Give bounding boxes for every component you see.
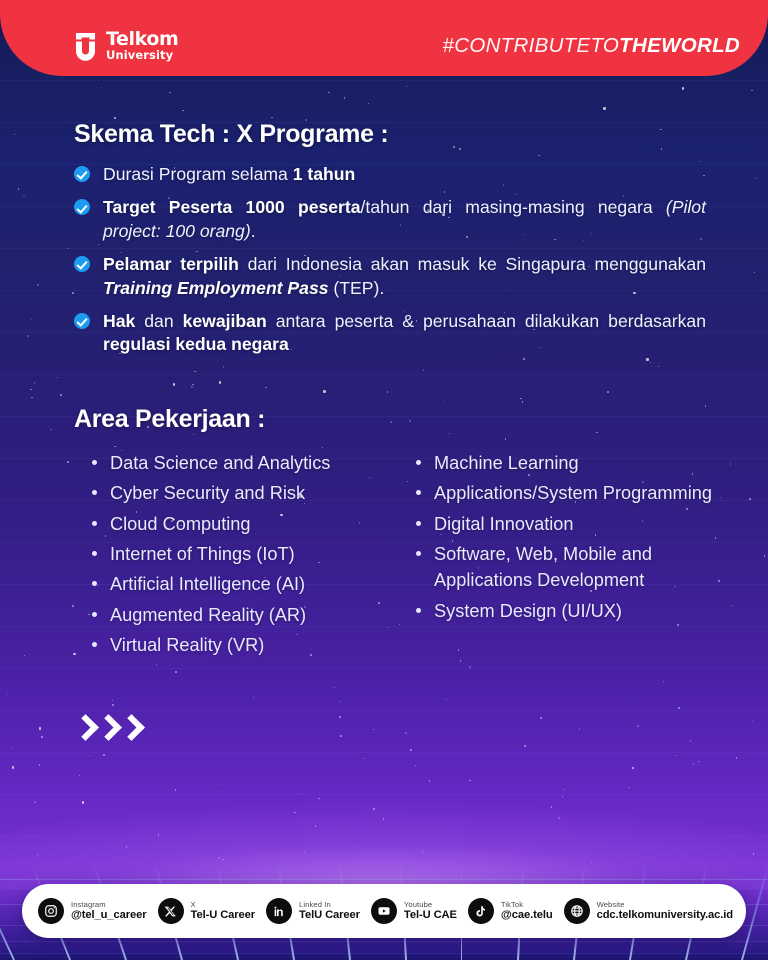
logo-line-university: University (106, 50, 178, 62)
scheme-text-part: Target Peserta 1000 peserta (103, 197, 361, 217)
telkom-university-logo: Telkom University (72, 30, 178, 63)
area-list-left: Data Science and AnalyticsCyber Security… (88, 450, 398, 663)
area-list-right: Machine LearningApplications/System Prog… (412, 450, 732, 663)
chevron-right-icon (74, 712, 94, 744)
x-twitter-icon[interactable] (158, 898, 184, 924)
social-platform-label: X (191, 901, 256, 909)
area-list-item: Machine Learning (412, 450, 732, 476)
scheme-text-part: Pelamar terpilih (103, 254, 239, 274)
scheme-list: Durasi Program selama 1 tahunTarget Pese… (74, 163, 706, 357)
social-text: TikTok@cae.telu (501, 901, 553, 922)
triple-chevron-right-icon (74, 712, 140, 744)
social-item-youtube[interactable]: YoutubeTel-U CAE (371, 898, 457, 924)
logo-line-telkom: Telkom (106, 30, 178, 49)
scheme-text-part: . (251, 221, 256, 241)
scheme-list-item: Target Peserta 1000 peserta/tahun dari m… (74, 196, 706, 243)
social-item-tiktok[interactable]: TikTok@cae.telu (468, 898, 553, 924)
social-platform-label: TikTok (501, 901, 553, 909)
scheme-text-part: kewajiban (183, 311, 267, 331)
scheme-text-part: dari Indonesia akan masuk ke Singapura m… (239, 254, 706, 274)
logo-wordmark: Telkom University (106, 30, 178, 63)
scheme-list-item: Durasi Program selama 1 tahun (74, 163, 706, 186)
scheme-text-part: Durasi Program selama (103, 164, 293, 184)
area-list-item: Cyber Security and Risk (88, 480, 398, 506)
check-circle-icon (74, 313, 90, 329)
area-list-item: Software, Web, Mobile and Applications D… (412, 541, 732, 594)
social-text: YoutubeTel-U CAE (404, 901, 457, 922)
social-handle-label: @tel_u_career (71, 910, 147, 922)
area-list-item: Data Science and Analytics (88, 450, 398, 476)
area-section: Area Pekerjaan : Data Science and Analyt… (74, 405, 706, 663)
area-title: Area Pekerjaan : (74, 405, 706, 434)
header-bar: Telkom University #CONTRIBUTETOTHEWORLD (0, 0, 768, 76)
social-platform-label: Instagram (71, 901, 147, 909)
social-text: Instagram@tel_u_career (71, 901, 147, 922)
area-list-item: System Design (UI/UX) (412, 598, 732, 624)
scheme-text-part: /tahun dari masing-masing negara (361, 197, 666, 217)
scheme-text-part: dan (135, 311, 182, 331)
social-item-x[interactable]: XTel-U Career (158, 898, 256, 924)
area-list-item: Virtual Reality (VR) (88, 632, 398, 658)
scheme-text-part: regulasi kedua negara (103, 334, 289, 354)
main-content: Skema Tech : X Programe : Durasi Program… (0, 120, 768, 662)
area-list-item: Augmented Reality (AR) (88, 602, 398, 628)
horizon-glow-decoration (0, 770, 768, 890)
scheme-text-part: 1 tahun (293, 164, 356, 184)
area-list-item: Artificial Intelligence (AI) (88, 571, 398, 597)
poster-canvas: Telkom University #CONTRIBUTETOTHEWORLD … (0, 0, 768, 960)
social-platform-label: Website (597, 901, 733, 909)
chevron-right-icon (120, 712, 140, 744)
scheme-text-part: (TEP). (329, 278, 385, 298)
social-item-linked-in[interactable]: Linked InTelU Career (266, 898, 360, 924)
social-item-instagram[interactable]: Instagram@tel_u_career (38, 898, 147, 924)
social-handle-label: Tel-U CAE (404, 910, 457, 922)
scheme-text-part: antara peserta & perusahaan dilakukan be… (267, 311, 706, 331)
social-handle-label: Tel-U Career (191, 910, 256, 922)
chevron-right-icon (97, 712, 117, 744)
scheme-list-item: Hak dan kewajiban antara peserta & perus… (74, 310, 706, 357)
linkedin-icon[interactable] (266, 898, 292, 924)
social-item-website[interactable]: Websitecdc.telkomuniversity.ac.id (564, 898, 733, 924)
area-list-item: Applications/System Programming (412, 480, 732, 506)
social-handle-label: TelU Career (299, 910, 360, 922)
hashtag-light-part: #CONTRIBUTETO (443, 34, 620, 57)
social-platform-label: Linked In (299, 901, 360, 909)
scheme-list-item: Pelamar terpilih dari Indonesia akan mas… (74, 253, 706, 300)
hashtag-bold-part: THEWORLD (619, 34, 740, 57)
area-columns: Data Science and AnalyticsCyber Security… (74, 450, 706, 663)
telkom-university-logo-icon (72, 31, 99, 61)
social-text: XTel-U Career (191, 901, 256, 922)
social-handle-label: @cae.telu (501, 910, 553, 922)
globe-icon[interactable] (564, 898, 590, 924)
area-list-item: Cloud Computing (88, 511, 398, 537)
social-text: Linked InTelU Career (299, 901, 360, 922)
scheme-title: Skema Tech : X Programe : (74, 120, 706, 149)
campaign-hashtag: #CONTRIBUTETOTHEWORLD (443, 34, 740, 62)
scheme-text-part: Training Employment Pass (103, 278, 329, 298)
check-circle-icon (74, 166, 90, 182)
social-text: Websitecdc.telkomuniversity.ac.id (597, 901, 733, 922)
scheme-text-part: Hak (103, 311, 135, 331)
check-circle-icon (74, 256, 90, 272)
area-list-item: Digital Innovation (412, 511, 732, 537)
area-list-item: Internet of Things (IoT) (88, 541, 398, 567)
social-media-bar: Instagram@tel_u_careerXTel-U CareerLinke… (22, 884, 746, 938)
instagram-icon[interactable] (38, 898, 64, 924)
social-platform-label: Youtube (404, 901, 457, 909)
youtube-icon[interactable] (371, 898, 397, 924)
social-handle-label: cdc.telkomuniversity.ac.id (597, 910, 733, 922)
check-circle-icon (74, 199, 90, 215)
tiktok-icon[interactable] (468, 898, 494, 924)
